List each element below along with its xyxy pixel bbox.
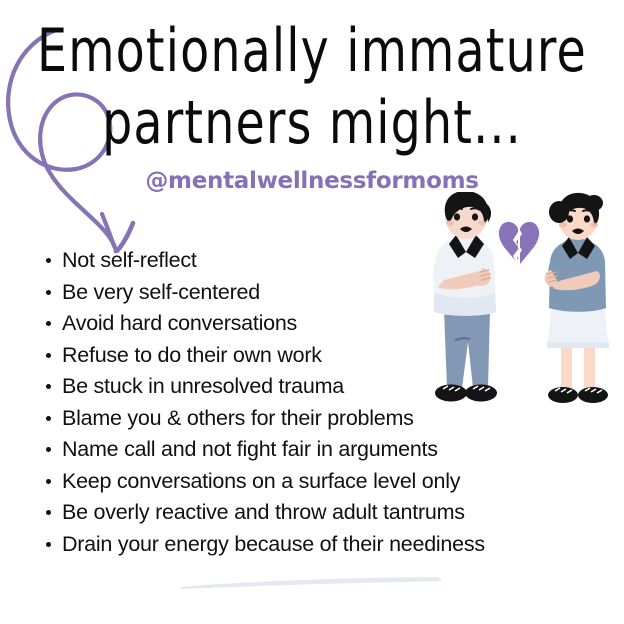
list-item: Not self-reflect [44,245,604,277]
traits-list: Not self-reflect Be very self-centered A… [44,245,604,560]
list-item: Avoid hard conversations [44,308,604,340]
list-item: Be stuck in unresolved trauma [44,371,604,403]
list-item: Refuse to do their own work [44,340,604,372]
account-handle: @mentalwellnessformoms [0,168,624,194]
list-item: Be overly reactive and throw adult tantr… [44,497,604,529]
list-item: Drain your energy because of their needi… [44,529,604,561]
headline-line-2: partners might... [9,88,614,159]
headline-line-1: Emotionally immature [9,16,614,87]
bottom-brush-stroke [180,576,442,590]
list-item: Be very self-centered [44,277,604,309]
list-item: Blame you & others for their problems [44,403,604,435]
list-item: Keep conversations on a surface level on… [44,466,604,498]
poster-canvas: Emotionally immature partners might... @… [0,0,624,624]
list-item: Name call and not fight fair in argument… [44,434,604,466]
page-title: Emotionally immature partners might... [0,16,624,146]
